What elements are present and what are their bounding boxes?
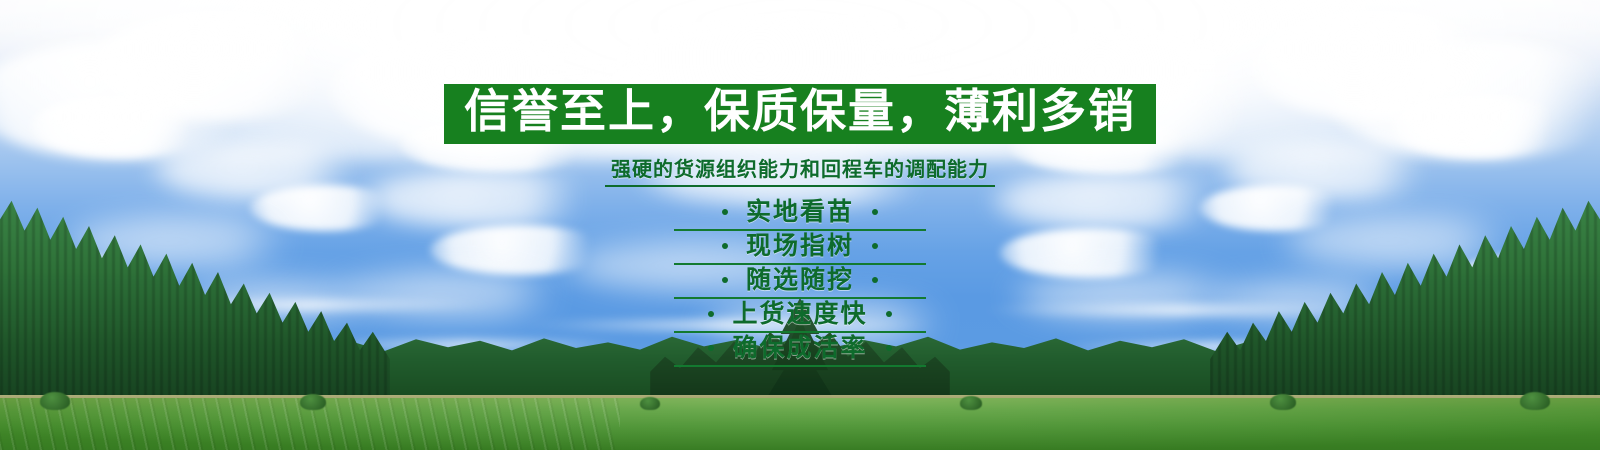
feature-item: 实地看苗 (674, 197, 926, 231)
feature-label: 现场指树 (746, 234, 854, 259)
bullet-dot-icon (722, 243, 728, 249)
feature-item: 现场指树 (674, 231, 926, 265)
feature-label: 随选随挖 (746, 268, 854, 293)
field-bush (960, 396, 982, 410)
bullet-dot-icon (872, 209, 878, 215)
bullet-dot-icon (886, 311, 892, 317)
feature-label: 实地看苗 (746, 200, 854, 225)
feature-list: 实地看苗 现场指树 随选随挖 上货速度快 确保成活率 (0, 197, 1600, 367)
field-bush (640, 397, 660, 410)
field-shading (0, 398, 1600, 450)
headline-banner: 信誉至上，保质保量，薄利多销 (444, 84, 1156, 144)
feature-item: 随选随挖 (674, 265, 926, 299)
headline-text: 信誉至上，保质保量，薄利多销 (464, 88, 1136, 136)
feature-label: 确保成活率 (732, 336, 867, 361)
field-bush (300, 394, 326, 410)
bullet-dot-icon (872, 277, 878, 283)
bullet-dot-icon (722, 209, 728, 215)
promo-banner: 信誉至上，保质保量，薄利多销 强硬的货源组织能力和回程车的调配能力 实地看苗 现… (0, 0, 1600, 450)
bullet-dot-icon (872, 243, 878, 249)
feature-item: 上货速度快 (674, 299, 926, 333)
bullet-dot-icon (722, 277, 728, 283)
bullet-dot-icon (886, 345, 892, 351)
field-bush (40, 392, 70, 410)
field-bush (1520, 392, 1550, 410)
field-bush (1270, 394, 1296, 410)
bullet-dot-icon (708, 345, 714, 351)
banner-content: 信誉至上，保质保量，薄利多销 强硬的货源组织能力和回程车的调配能力 实地看苗 现… (0, 0, 1600, 367)
feature-item: 确保成活率 (674, 333, 926, 367)
subtitle-text: 强硬的货源组织能力和回程车的调配能力 (605, 153, 995, 187)
feature-label: 上货速度快 (732, 302, 867, 327)
bullet-dot-icon (708, 311, 714, 317)
